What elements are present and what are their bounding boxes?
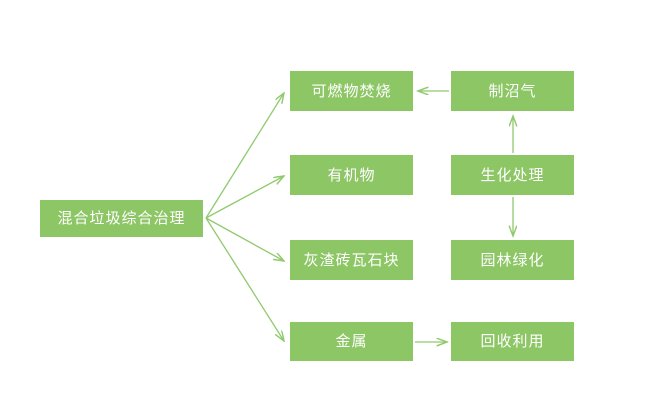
node-source[interactable]: 混合垃圾综合治理	[40, 200, 203, 237]
node-biochem[interactable]: 生化处理	[451, 155, 574, 195]
edge-source-to-metal	[206, 218, 284, 341]
node-biogas[interactable]: 制沼气	[451, 71, 574, 111]
node-source-label: 混合垃圾综合治理	[57, 211, 185, 226]
node-incinerate-label: 可燃物焚烧	[311, 84, 391, 99]
node-landscape-label: 园林绿化	[480, 253, 544, 268]
node-metal[interactable]: 金属	[290, 322, 413, 361]
edge-source-to-incinerate	[206, 93, 284, 218]
node-organic[interactable]: 有机物	[290, 155, 413, 195]
node-recycle[interactable]: 回收利用	[451, 322, 574, 361]
flowchart-canvas: 混合垃圾综合治理 可燃物焚烧 有机物 灰渣砖瓦石块 金属 制沼气 生化处理 园林…	[0, 0, 648, 416]
node-incinerate[interactable]: 可燃物焚烧	[290, 71, 413, 111]
node-organic-label: 有机物	[327, 168, 375, 183]
node-biochem-label: 生化处理	[480, 168, 544, 183]
edge-source-to-organic	[206, 176, 284, 218]
node-recycle-label: 回收利用	[480, 334, 544, 349]
node-biogas-label: 制沼气	[488, 84, 536, 99]
node-metal-label: 金属	[335, 334, 367, 349]
node-landscape[interactable]: 园林绿化	[451, 240, 574, 280]
node-ash-label: 灰渣砖瓦石块	[303, 253, 399, 268]
node-ash[interactable]: 灰渣砖瓦石块	[290, 240, 413, 280]
edge-source-to-ash	[206, 218, 284, 261]
